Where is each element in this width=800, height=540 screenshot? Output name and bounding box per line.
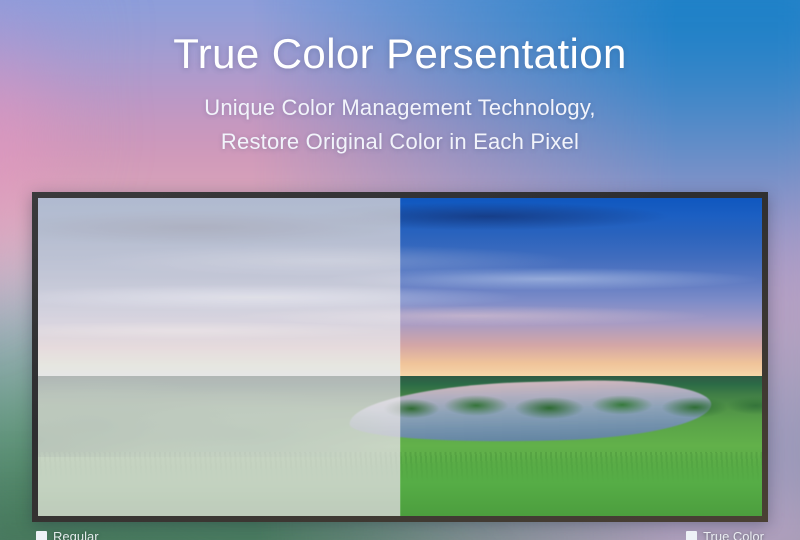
after-swatch-icon: [686, 531, 697, 540]
before-swatch-icon: [36, 531, 47, 540]
comparison-split-divider[interactable]: [400, 198, 401, 516]
page-title: True Color Persentation: [0, 30, 800, 77]
heading-block: True Color Persentation Unique Color Man…: [0, 30, 800, 159]
photo-before-side: [38, 198, 400, 516]
before-haze-overlay: [38, 198, 400, 516]
caption-strip: Regular True Color: [0, 526, 800, 540]
photo-before-render: [38, 198, 400, 516]
caption-after: True Color: [686, 529, 764, 540]
photo-frame: [32, 192, 768, 522]
caption-before: Regular: [36, 529, 99, 540]
slide-stage: True Color Persentation Unique Color Man…: [0, 0, 800, 540]
page-subtitle: Unique Color Management Technology, Rest…: [0, 91, 800, 159]
subtitle-line-1: Unique Color Management Technology,: [0, 91, 800, 125]
comparison-photo[interactable]: [38, 198, 762, 516]
subtitle-line-2: Restore Original Color in Each Pixel: [0, 125, 800, 159]
caption-after-label: True Color: [703, 529, 764, 540]
caption-before-label: Regular: [53, 529, 99, 540]
